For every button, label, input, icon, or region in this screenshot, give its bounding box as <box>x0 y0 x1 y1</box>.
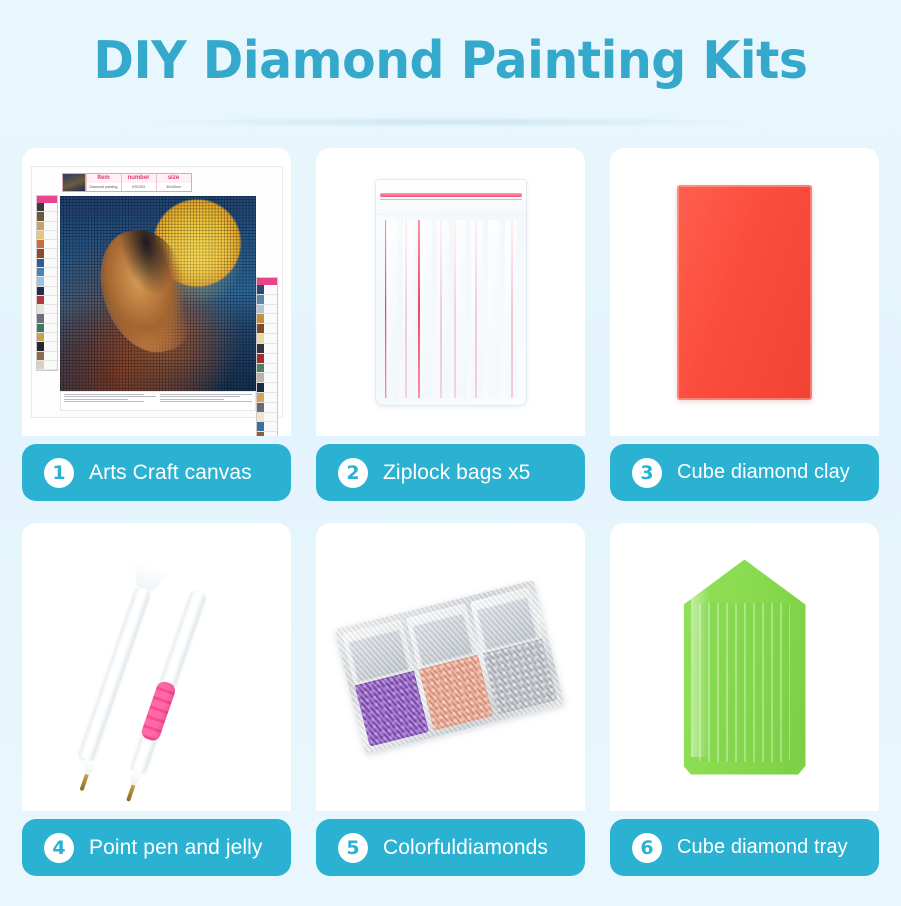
item-label-3[interactable]: 3 Cube diamond clay <box>610 444 879 501</box>
product-card-ziplock-bags <box>316 148 585 436</box>
grid-cell-1: Item number size Diamond painting KS1003… <box>22 148 291 501</box>
canvas-instructions-text <box>60 391 256 411</box>
color-legend-left <box>36 195 58 371</box>
item-label-4[interactable]: 4 Point pen and jelly <box>22 819 291 876</box>
page-title: DIY Diamond Painting Kits <box>27 34 874 89</box>
bag-contents <box>383 220 519 398</box>
item-label-1[interactable]: 1 Arts Craft canvas <box>22 444 291 501</box>
item-label-6[interactable]: 6 Cube diamond tray <box>610 819 879 876</box>
table-value-number: KS1003 <box>121 183 156 192</box>
ziplock-bag-image <box>375 179 527 406</box>
spatula-head <box>126 558 172 596</box>
product-card-point-pen <box>22 523 291 811</box>
grid-cell-5: 5 Colorfuldiamonds <box>316 523 585 876</box>
item-label-text-2: Ziplock bags x5 <box>383 461 530 485</box>
color-legend-right <box>256 277 278 436</box>
canvas-info-table: Item number size Diamond painting KS1003… <box>62 173 192 192</box>
pens-image <box>44 542 269 792</box>
diamond-packet-strip <box>335 580 565 754</box>
item-label-text-1: Arts Craft canvas <box>89 461 252 485</box>
product-contents-grid: Item number size Diamond painting KS1003… <box>22 148 880 876</box>
table-value-size: 30x30cm <box>156 183 191 192</box>
grid-cell-3: 3 Cube diamond clay <box>610 148 879 501</box>
item-number-badge-6: 6 <box>632 833 662 863</box>
page-title-wrap: DIY Diamond Painting Kits <box>0 34 901 89</box>
tray-highlight <box>691 581 711 757</box>
spatula-pen-tip <box>80 774 89 791</box>
item-number-badge-5: 5 <box>338 833 368 863</box>
pink-jelly-grip <box>140 680 177 743</box>
canvas-thumbnail-icon <box>63 174 86 191</box>
legend-header-left <box>37 196 57 203</box>
item-label-text-6: Cube diamond tray <box>677 836 848 859</box>
table-header-size: size <box>156 174 191 183</box>
grid-cell-2: 2 Ziplock bags x5 <box>316 148 585 501</box>
product-card-colorful-diamonds <box>316 523 585 811</box>
item-label-text-3: Cube diamond clay <box>677 461 850 484</box>
item-label-2[interactable]: 2 Ziplock bags x5 <box>316 444 585 501</box>
item-number-badge-4: 4 <box>44 833 74 863</box>
bag-zipper-seal <box>380 193 522 197</box>
spatula-pen <box>68 562 172 795</box>
red-clay-block-image <box>677 185 812 400</box>
item-number-badge-1: 1 <box>44 458 74 488</box>
item-number-badge-2: 2 <box>338 458 368 488</box>
item-label-text-4: Point pen and jelly <box>89 836 263 860</box>
bag-lip <box>376 180 526 215</box>
bag-zipper-seal-secondary <box>380 199 522 201</box>
beads-pink <box>419 655 493 731</box>
diamonds-image <box>333 567 568 767</box>
item-label-text-5: Colorfuldiamonds <box>383 836 548 860</box>
product-card-diamond-clay <box>610 148 879 436</box>
point-pen-tip <box>126 784 135 801</box>
table-header-number: number <box>121 174 156 183</box>
beads-purple <box>355 671 429 747</box>
table-header-item: Item <box>86 174 121 183</box>
beads-grey <box>483 639 557 715</box>
canvas-sheet-image: Item number size Diamond painting KS1003… <box>31 166 283 418</box>
grid-cell-6: 6 Cube diamond tray <box>610 523 879 876</box>
tray-grooves <box>699 603 789 762</box>
grid-cell-4: 4 Point pen and jelly <box>22 523 291 876</box>
title-underline-shadow <box>150 117 750 127</box>
canvas-artwork-wolf-moon <box>60 196 256 392</box>
legend-rows-left <box>37 203 57 370</box>
product-card-canvas: Item number size Diamond painting KS1003… <box>22 148 291 436</box>
item-number-badge-3: 3 <box>632 458 662 488</box>
product-card-diamond-tray <box>610 523 879 811</box>
legend-rows-right <box>257 285 277 436</box>
green-tray-image <box>684 560 806 775</box>
table-value-item: Diamond painting <box>86 183 121 192</box>
spatula-pen-body <box>78 586 151 761</box>
item-label-5[interactable]: 5 Colorfuldiamonds <box>316 819 585 876</box>
legend-header-right <box>257 278 277 285</box>
spatula-pen-cone <box>80 759 99 777</box>
